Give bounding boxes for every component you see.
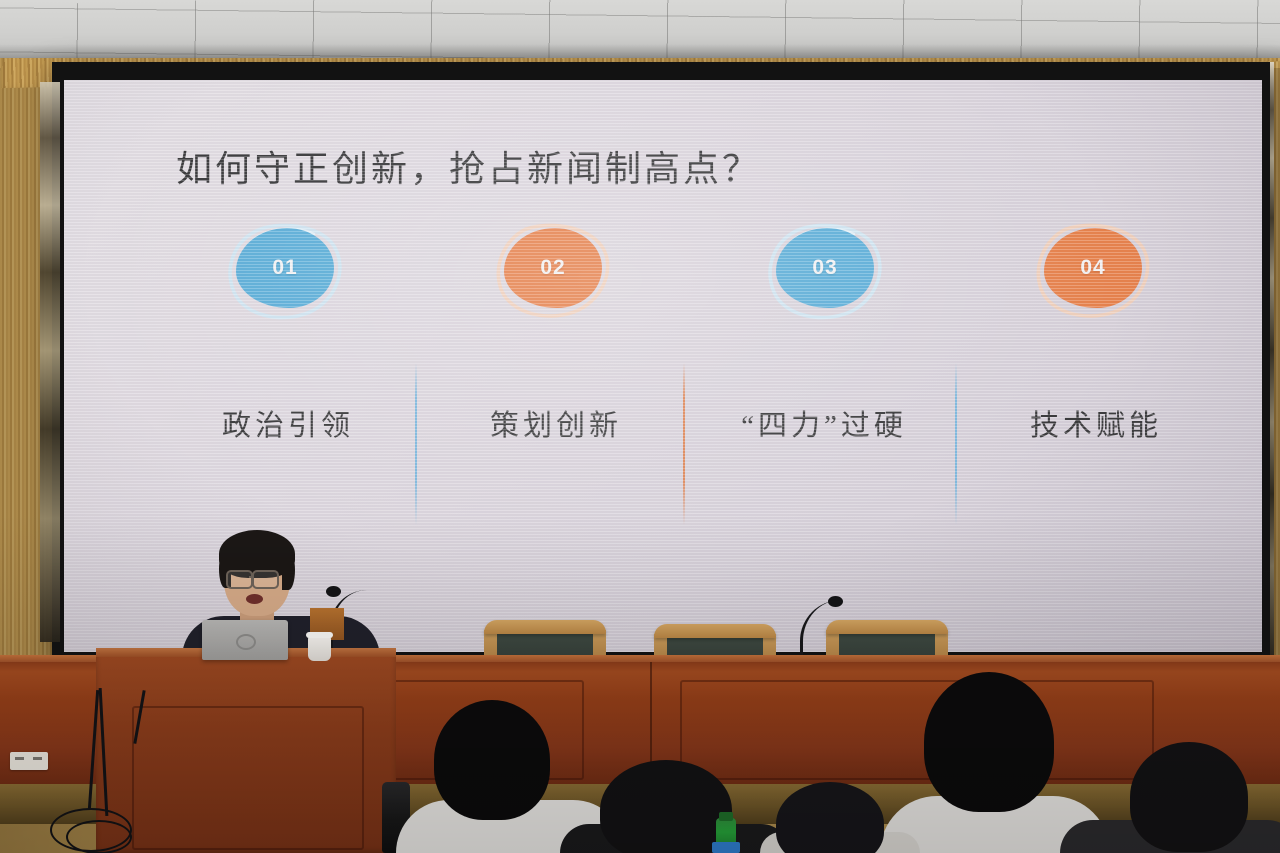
circle-badge: 03 [776,228,874,308]
speaker-glasses-bridge [249,576,254,578]
podium-panel-inset [132,706,364,850]
chair-top-rail [484,620,606,634]
slide-labels: 政治引领 策划创新 “四力”过硬 技术赋能 [160,402,1170,454]
laptop [202,620,288,660]
speaker-glasses-lens-right [252,570,279,589]
circle-number: 04 [1080,256,1105,280]
circle-number: 03 [812,256,837,280]
circle-number: 01 [272,256,297,280]
table-microphone-head [828,596,843,607]
outlet-slot [33,757,42,760]
audience-head [434,700,550,820]
laptop-logo-icon [236,634,256,650]
coiled-cable [66,820,132,853]
circle-badge: 04 [1044,228,1142,308]
circle-badge: 01 [236,228,334,308]
chair-top-rail [654,624,776,638]
speaker-hair-side-right [282,550,295,590]
audience-head [1130,742,1248,852]
ceiling [0,0,1280,58]
audience-head [924,672,1054,812]
slide-number-circles: 01 02 03 [160,218,1170,322]
slide-label: “四力”过硬 [699,402,949,444]
chair-top-rail [826,620,948,634]
paper-cup [308,636,331,661]
outlet-slot [15,757,24,760]
slide-item-04: 04 [1032,218,1160,322]
screen-metal-trim-left [40,82,60,642]
speaker-glasses-lens-left [226,570,253,589]
circle-number: 02 [540,256,565,280]
paper-cup-lid [306,632,333,638]
podium-microphone-head [326,586,341,597]
slide-label: 政治引领 [163,402,413,444]
lecture-podium [96,648,396,853]
power-outlet [10,752,48,770]
audience-head [600,760,732,853]
slide-title: 如何守正创新，抢占新闻制高点？ [176,140,761,192]
table-panel-inset [680,680,1154,780]
slide-item-01: 01 [224,218,352,322]
ceiling-edge-shadow [0,44,1280,58]
conference-presentation-photo: 如何守正创新，抢占新闻制高点？ 01 02 [0,0,1280,853]
water-bottle-label [712,842,740,853]
slide-label: 策划创新 [431,402,681,444]
water-bottle-cap [719,812,733,821]
slide-item-03: 03 [764,218,892,322]
speaker-mouth [246,594,263,604]
slide-label: 技术赋能 [971,402,1221,444]
slide-item-02: 02 [492,218,620,322]
circle-badge: 02 [504,228,602,308]
